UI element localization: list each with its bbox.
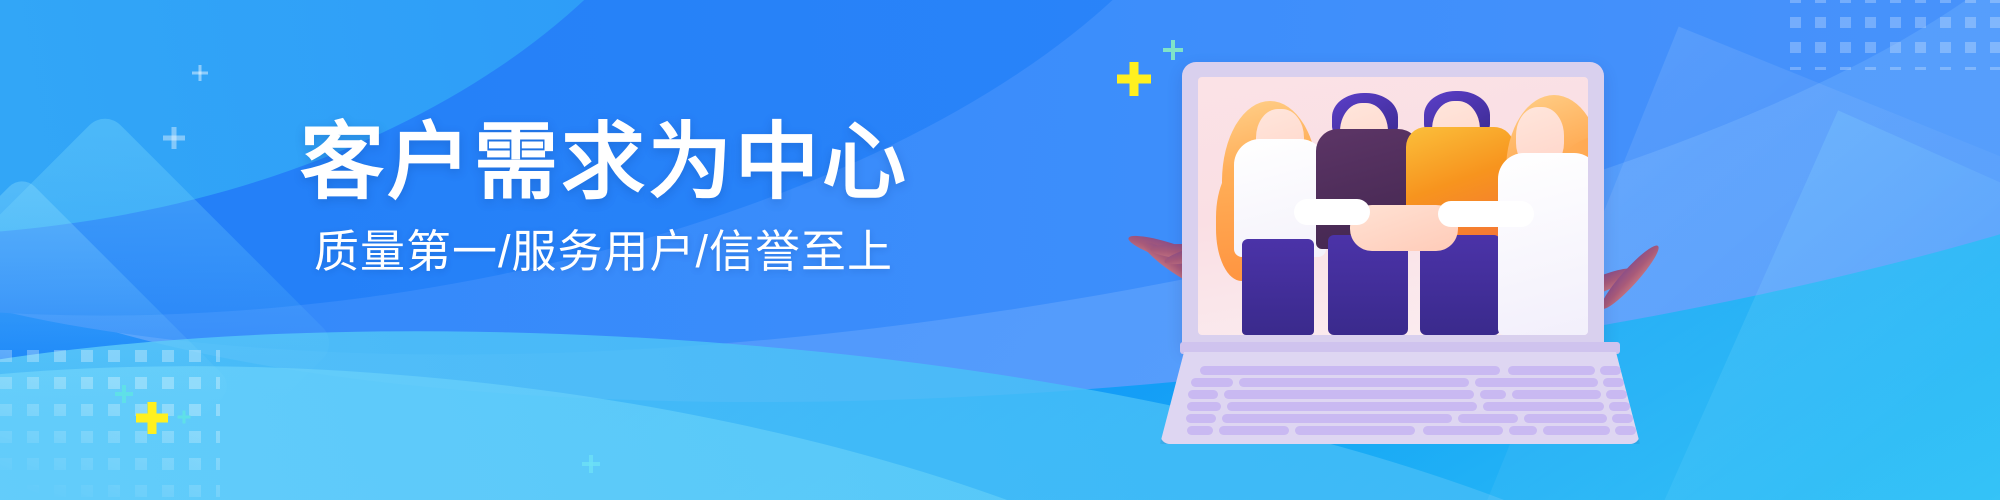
keyboard-key [1295,426,1415,435]
laptop-base [1160,352,1640,444]
keyboard-key [1222,414,1452,423]
keyboard-key [1583,402,1604,411]
promo-banner: 客户需求为中心 质量第一/服务用户/信誉至上 [0,0,2000,500]
plus-cyan-small-top-icon [1163,40,1183,60]
laptop-lid [1182,62,1604,347]
chevron-plate-left-2 [0,174,234,500]
keyboard-key [1191,378,1233,387]
keyboard-key [1551,378,1572,387]
legs-woman-left [1242,239,1314,335]
keyboard-key [1580,390,1601,399]
plus-white-mid-left-icon [163,127,185,149]
keyboard-key [1554,390,1575,399]
keyboard-key [1557,402,1578,411]
chevron-plate-left [0,110,338,500]
keyboard-key [1560,414,1581,423]
keyboard-key [1574,366,1595,375]
keyboard-key [1603,378,1624,387]
plus-white-upper-left-icon [192,65,208,81]
keyboard-key [1480,390,1506,399]
keyboard-key [1475,378,1593,387]
laptop-screen [1198,77,1588,335]
arm-right-reaching [1438,201,1534,227]
banner-copy: 客户需求为中心 质量第一/服务用户/信誉至上 [300,118,1060,277]
keyboard-key [1589,426,1610,435]
keyboard-key [1200,366,1500,375]
body-woman-right [1498,153,1588,335]
keyboard-key [1606,390,1627,399]
sheen-right-2 [1610,110,2000,500]
keyboard-key [1563,426,1584,435]
page-subtitle: 质量第一/服务用户/信誉至上 [314,227,1060,277]
keyboard-key [1224,390,1474,399]
keyboard-key [1186,414,1216,423]
keyboard-key [1423,426,1503,435]
plus-yellow-large-top-icon [1117,62,1151,96]
keyboard-key [1600,366,1621,375]
keyboard-key [1548,366,1569,375]
keyboard-key [1187,426,1213,435]
keyboard-key [1188,390,1218,399]
keyboard-key [1187,402,1221,411]
plus-cyan-tiny-bottom-icon [177,410,190,423]
arm-left-reaching [1294,199,1370,225]
keyboard-key [1219,426,1289,435]
dot-grid-bottom-left-icon [0,350,220,500]
keyboard-key [1615,426,1636,435]
plus-cyan-medium-bottom-icon [115,385,133,403]
keyboard-key [1612,414,1633,423]
keyboard-key [1577,378,1598,387]
keyboard-key [1458,414,1518,423]
laptop-illustration [1160,62,1640,452]
page-title: 客户需求为中心 [300,118,1060,207]
keyboard-key [1609,402,1630,411]
keyboard-key [1227,402,1477,411]
plus-cyan-center-low-icon [582,455,600,473]
keyboard-key [1509,426,1537,435]
keyboard-key [1239,378,1469,387]
keyboard-key [1586,414,1607,423]
plus-yellow-large-bottom-icon [136,402,168,434]
dot-grid-top-right-icon [1790,0,2000,70]
